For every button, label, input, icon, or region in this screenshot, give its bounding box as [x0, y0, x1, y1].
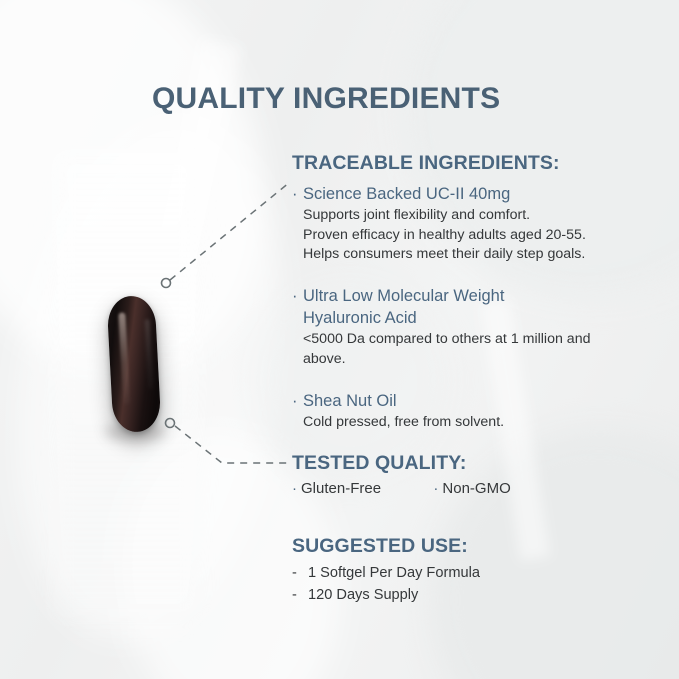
list-item-label: Non-GMO — [442, 480, 510, 497]
bullet-icon: · — [292, 480, 297, 497]
ingredient-title: Shea Nut Oil — [303, 390, 652, 412]
section-heading-traceable: TRACEABLE INGREDIENTS: — [292, 152, 560, 175]
ingredient-item-hyaluronic-acid: · Ultra Low Molecular Weight Hyaluronic … — [292, 285, 652, 369]
list-item-label: 120 Days Supply — [308, 587, 418, 603]
bullet-icon: · — [292, 285, 298, 307]
ingredient-item-uc2: · Science Backed UC-II 40mg Supports joi… — [292, 183, 652, 265]
ingredient-body-line: Helps consumers meet their daily step go… — [303, 245, 652, 265]
list-item-label: Gluten-Free — [301, 480, 381, 497]
ingredient-body-line: <5000 Da compared to others at 1 million… — [303, 330, 652, 350]
suggested-use-list: -1 Softgel Per Day Formula -120 Days Sup… — [292, 562, 480, 606]
section-heading-tested-quality: TESTED QUALITY: — [292, 452, 466, 475]
list-item-gluten-free: ·Gluten-Free — [292, 480, 381, 497]
dash-icon: - — [292, 562, 308, 584]
list-item-days-supply: -120 Days Supply — [292, 584, 480, 606]
ingredient-title-line2: Hyaluronic Acid — [303, 307, 652, 329]
ingredient-item-shea-nut-oil: · Shea Nut Oil Cold pressed, free from s… — [292, 390, 652, 433]
list-item-softgel-per-day: -1 Softgel Per Day Formula — [292, 562, 480, 584]
softgel-capsule-image — [106, 295, 161, 433]
bullet-icon: · — [292, 390, 298, 412]
list-item-non-gmo: ·Non-GMO — [433, 480, 510, 497]
ingredient-title: Ultra Low Molecular Weight — [303, 285, 652, 307]
bullet-icon: · — [292, 183, 298, 205]
ingredient-body-line: Supports joint flexibility and comfort. — [303, 206, 652, 226]
ingredient-body-line: Proven efficacy in healthy adults aged 2… — [303, 226, 652, 246]
ingredient-body-line: Cold pressed, free from solvent. — [303, 413, 652, 433]
product-infographic: QUALITY INGREDIENTS TRACEABLE INGREDIENT… — [0, 0, 679, 679]
tested-quality-list: ·Gluten-Free ·Non-GMO — [292, 480, 511, 497]
bullet-icon: · — [433, 480, 438, 497]
list-item-label: 1 Softgel Per Day Formula — [308, 565, 480, 581]
ingredient-body-line: above. — [303, 350, 652, 370]
dash-icon: - — [292, 584, 308, 606]
section-heading-suggested-use: SUGGESTED USE: — [292, 535, 468, 558]
ingredient-title: Science Backed UC-II 40mg — [303, 183, 652, 205]
page-title: QUALITY INGREDIENTS — [152, 82, 500, 116]
